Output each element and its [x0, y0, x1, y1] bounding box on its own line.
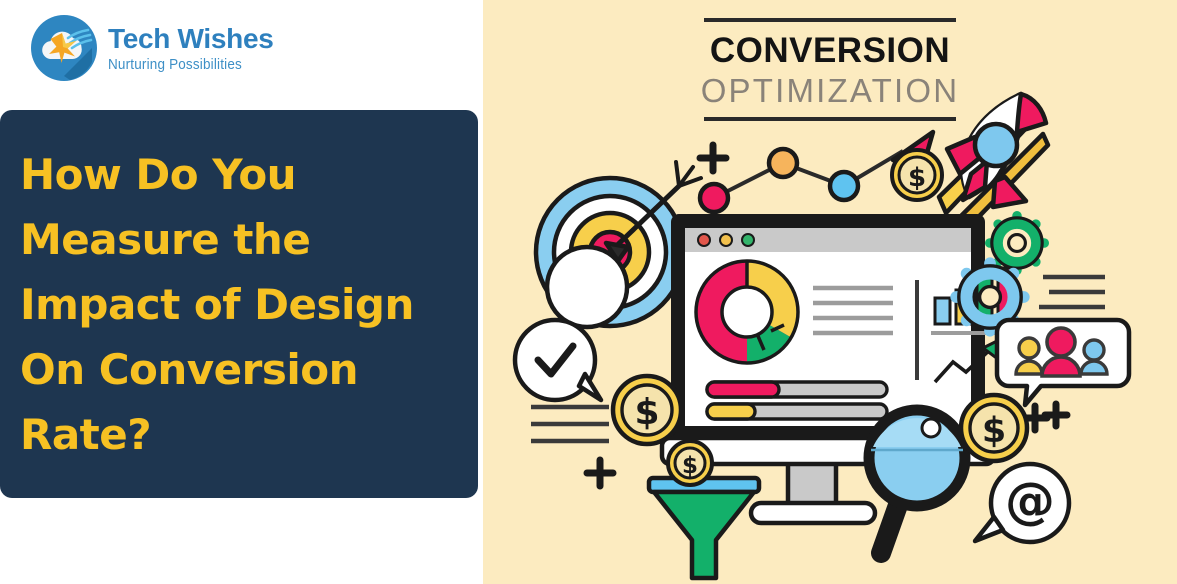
magnifier-icon — [869, 410, 965, 553]
text-lines-icon — [531, 407, 609, 441]
brand-tagline: Nurturing Possibilities — [108, 58, 262, 73]
svg-text:@: @ — [1005, 472, 1055, 530]
page-title: How Do You Measure the Impact of Design … — [20, 142, 460, 467]
brand-logo[interactable]: Tech Wishes Nurturing Possibilities — [30, 14, 274, 82]
brand-name: Tech Wishes — [108, 25, 274, 53]
headline-card: How Do You Measure the Impact of Design … — [0, 110, 478, 498]
at-sign-bubble-icon: @ — [975, 464, 1069, 542]
funnel-icon — [649, 478, 759, 578]
svg-text:$: $ — [634, 392, 659, 433]
text-lines-icon — [1039, 277, 1105, 307]
banner-root: Tech Wishes Nurturing Possibilities How … — [0, 0, 1177, 584]
svg-text:$: $ — [982, 411, 1006, 451]
svg-text:$: $ — [682, 453, 698, 479]
left-panel: Tech Wishes Nurturing Possibilities How … — [0, 0, 483, 584]
rocket-icon — [939, 94, 1048, 233]
plus-sign-icon — [700, 145, 726, 171]
svg-text:$: $ — [908, 163, 926, 193]
brand-text: Tech Wishes Nurturing Possibilities — [108, 23, 274, 73]
people-bubble-icon — [997, 320, 1129, 405]
illustration-artwork: .ok { stroke:#1A1A1A; stroke-width:4.5; … — [483, 0, 1177, 584]
plus-sign-icon — [587, 460, 613, 486]
cloud-star-icon — [30, 14, 98, 82]
plus-sign-icon — [1045, 404, 1067, 426]
illustration-panel: CONVERSION OPTIMIZATION .ok { stroke:#1A… — [483, 0, 1177, 584]
